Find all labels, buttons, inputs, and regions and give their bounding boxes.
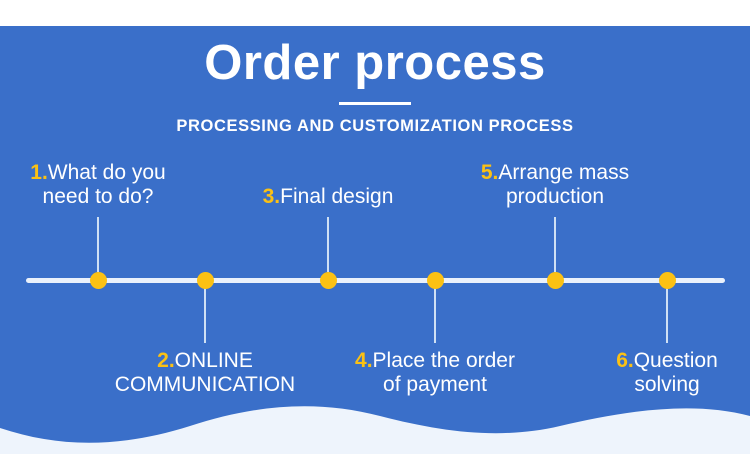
step-number-5: 5. [481,161,499,184]
timeline-connector-5 [554,217,556,272]
step-text-2-line-1: ONLINE [175,349,253,372]
step-number-6: 6. [616,349,634,372]
timeline-connector-2 [204,288,206,343]
step-text-3-line-1: Final design [280,185,393,208]
process-timeline-axis [26,278,725,283]
step-number-2: 2. [157,349,175,372]
step-text-1-line-2: need to do? [43,185,154,208]
timeline-connector-6 [666,288,668,343]
timeline-dot-3[interactable] [320,272,337,289]
infographic-canvas: Order process PROCESSING AND CUSTOMIZATI… [0,0,750,454]
timeline-dot-2[interactable] [197,272,214,289]
timeline-connector-4 [434,288,436,343]
step-text-5-line-1: Arrange mass [498,161,629,184]
title-divider [339,102,411,105]
timeline-connector-1 [97,217,99,272]
step-number-3: 3. [263,185,281,208]
timeline-dot-5[interactable] [547,272,564,289]
header-block: Order process PROCESSING AND CUSTOMIZATI… [0,38,750,136]
page-subtitle: PROCESSING AND CUSTOMIZATION PROCESS [0,117,750,136]
step-text-5-line-2: production [506,185,604,208]
timeline-step-label-5[interactable]: 5.Arrange massproduction [405,161,705,209]
step-number-4: 4. [355,349,373,372]
step-text-4-line-1: Place the order [373,349,515,372]
timeline-connector-3 [327,217,329,272]
blue-background-panel: Order process PROCESSING AND CUSTOMIZATI… [0,26,750,454]
timeline-dot-6[interactable] [659,272,676,289]
page-title: Order process [0,38,750,89]
bottom-wave-decoration [0,382,750,454]
step-text-1-line-1: What do you [48,161,166,184]
step-text-6-line-1: Question [634,349,718,372]
step-number-1: 1. [30,161,48,184]
timeline-dot-4[interactable] [427,272,444,289]
timeline-dot-1[interactable] [90,272,107,289]
